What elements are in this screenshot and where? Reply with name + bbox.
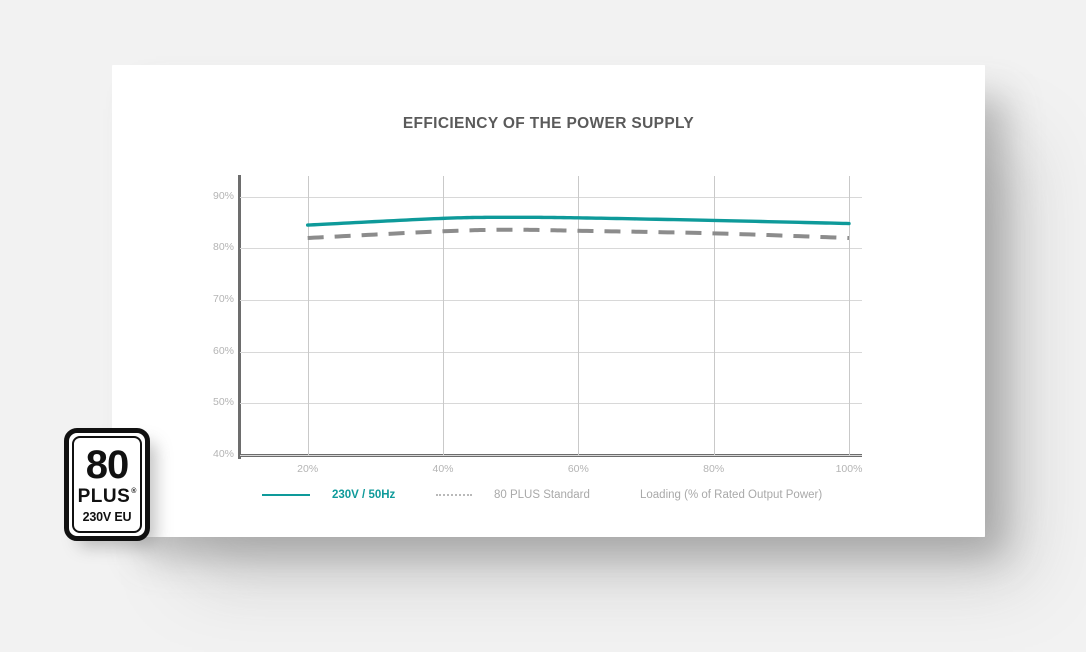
badge-inner-frame: 80 PLUS ® 230V EU xyxy=(72,436,142,533)
x-tick-label: 60% xyxy=(548,463,608,475)
series-230v-50hz xyxy=(308,217,849,225)
legend-label-80-plus-standard: 80 PLUS Standard xyxy=(494,489,590,501)
series-lines xyxy=(240,176,849,455)
legend-label-230v: 230V / 50Hz xyxy=(332,489,395,501)
x-axis-caption: Loading (% of Rated Output Power) xyxy=(640,489,822,501)
chart-legend: 230V / 50Hz 80 PLUS Standard Loading (% … xyxy=(240,485,960,505)
legend-item-230v[interactable]: 230V / 50Hz xyxy=(262,485,395,505)
legend-item-axis-caption: Loading (% of Rated Output Power) xyxy=(640,485,822,505)
badge-plus-row: PLUS ® xyxy=(78,487,137,506)
gridline-y xyxy=(240,455,862,456)
x-tick-label: 80% xyxy=(684,463,744,475)
legend-item-80-plus-standard[interactable]: 80 PLUS Standard xyxy=(436,485,590,505)
eighty-plus-badge: 80 PLUS ® 230V EU xyxy=(64,428,150,541)
registered-trademark-icon: ® xyxy=(131,488,136,495)
plot-area: 40%50%60%70%80%90% 20%40%60%80%100% xyxy=(240,176,849,455)
y-tick-label: 90% xyxy=(194,190,234,202)
y-tick-label: 60% xyxy=(194,345,234,357)
x-tick-label: 40% xyxy=(413,463,473,475)
series-80-plus-standard xyxy=(308,230,849,238)
badge-plus-text: PLUS xyxy=(78,487,131,506)
solid-line-swatch-icon xyxy=(262,494,310,496)
x-tick-label: 20% xyxy=(278,463,338,475)
y-tick-label: 80% xyxy=(194,241,234,253)
y-tick-label: 70% xyxy=(194,293,234,305)
chart-card: EFFICIENCY OF THE POWER SUPPLY 40%50%60%… xyxy=(112,65,985,537)
plot-container: 40%50%60%70%80%90% 20%40%60%80%100% xyxy=(112,65,985,537)
dashed-line-swatch-icon xyxy=(436,494,472,496)
badge-number: 80 xyxy=(86,445,129,485)
y-tick-label: 40% xyxy=(194,448,234,460)
gridline-x xyxy=(849,176,850,455)
y-tick-label: 50% xyxy=(194,396,234,408)
x-tick-label: 100% xyxy=(819,463,879,475)
badge-region-text: 230V EU xyxy=(83,510,132,524)
